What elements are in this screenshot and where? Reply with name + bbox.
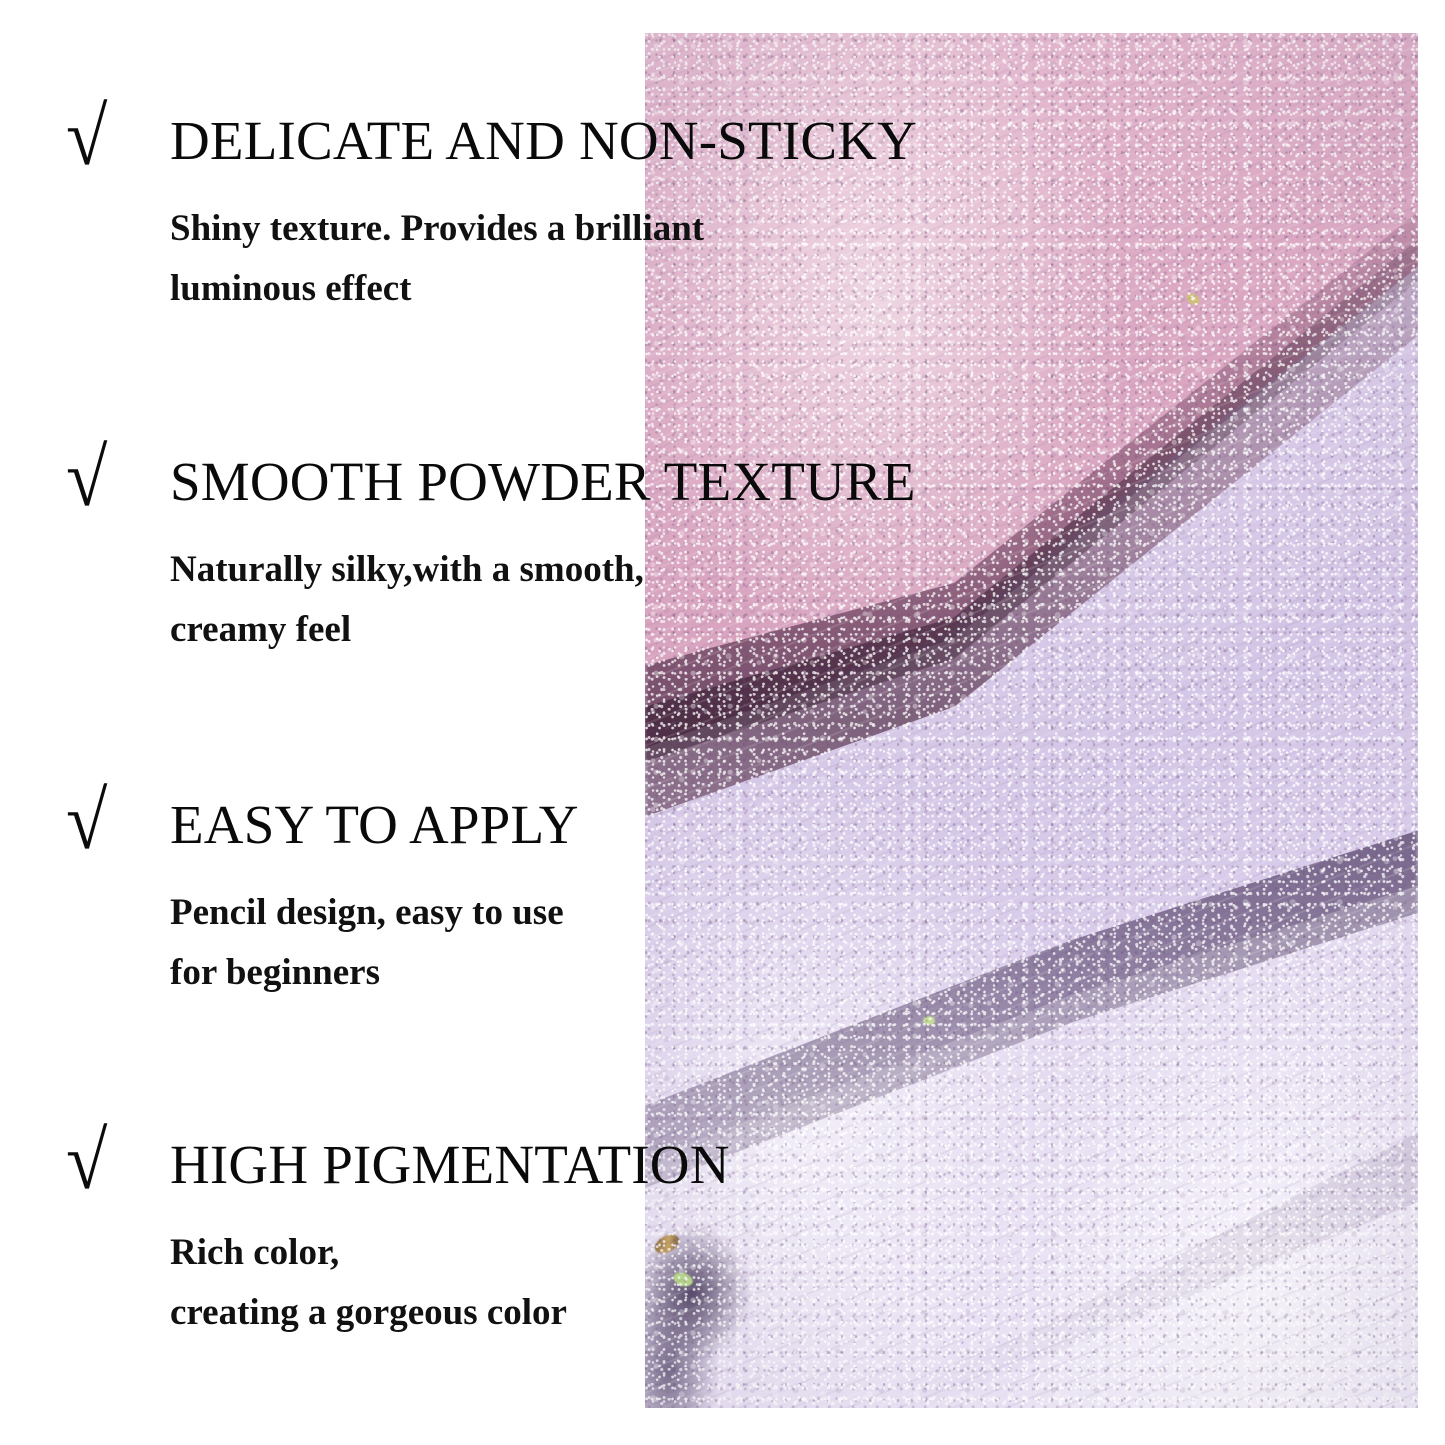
feature-description-line: creating a gorgeous color <box>170 1283 567 1343</box>
feature-description: Rich color, creating a gorgeous color <box>170 1223 567 1343</box>
feature-description: Shiny texture. Provides a brilliant lumi… <box>170 199 704 319</box>
feature-description-line: Pencil design, easy to use <box>170 883 564 943</box>
feature-description-line: creamy feel <box>170 600 644 660</box>
checkmark-icon: √ <box>66 445 162 511</box>
feature-description-line: luminous effect <box>170 259 704 319</box>
feature-title: DELICATE AND NON-STICKY <box>170 104 917 168</box>
feature-description-line: Rich color, <box>170 1223 567 1283</box>
feature-heading-row: √ EASY TO APPLY <box>66 788 579 854</box>
feature-description: Naturally silky,with a smooth, creamy fe… <box>170 540 644 660</box>
feature-title: HIGH PIGMENTATION <box>170 1128 730 1192</box>
feature-heading-row: √ DELICATE AND NON-STICKY <box>66 104 917 170</box>
feature-heading-row: √ HIGH PIGMENTATION <box>66 1128 730 1194</box>
checkmark-icon: √ <box>66 1128 162 1194</box>
feature-title: SMOOTH POWDER TEXTURE <box>170 445 916 509</box>
cosmetic-powder-macro-photo <box>645 33 1418 1408</box>
feature-description-line: Shiny texture. Provides a brilliant <box>170 199 704 259</box>
feature-description-line: for beginners <box>170 943 564 1003</box>
checkmark-icon: √ <box>66 788 162 854</box>
checkmark-icon: √ <box>66 104 162 170</box>
feature-description-line: Naturally silky,with a smooth, <box>170 540 644 600</box>
infographic-canvas: √ DELICATE AND NON-STICKY Shiny texture.… <box>0 0 1445 1445</box>
feature-heading-row: √ SMOOTH POWDER TEXTURE <box>66 445 916 511</box>
feature-title: EASY TO APPLY <box>170 788 579 852</box>
photo-vignette <box>645 33 1418 1408</box>
feature-description: Pencil design, easy to use for beginners <box>170 883 564 1003</box>
